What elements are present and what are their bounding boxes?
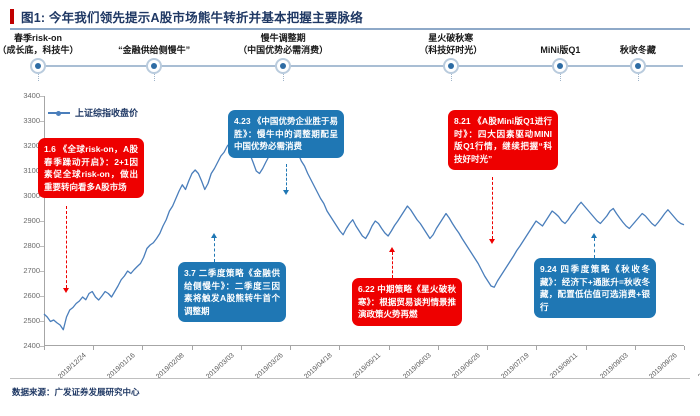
x-tick-label-11: 2019/09/03 (599, 352, 630, 381)
timeline-node-stem-5 (638, 74, 639, 81)
figure-page: 图1: 今年我们领先提示A股市场熊牛转折并基本把握主要脉络 春季risk-on（… (0, 0, 700, 416)
x-tick-mark-5 (290, 346, 291, 350)
figure-title-row: 图1: 今年我们领先提示A股市场熊牛转折并基本把握主要脉络 (10, 7, 363, 26)
timeline-node-2[interactable] (275, 58, 291, 74)
timeline-label-3: 星火破秋寒（科技好时光） (391, 32, 511, 56)
y-tick-label-6: 3000 (10, 191, 40, 200)
page-title: 图1: 今年我们领先提示A股市场熊牛转折并基本把握主要脉络 (21, 7, 363, 26)
timeline-node-stem-2 (283, 74, 284, 81)
callout-0622-leader (392, 252, 393, 278)
callout-0924-arrow (591, 233, 597, 238)
x-tick-label-8: 2019/06/26 (451, 352, 482, 381)
timeline-node-5[interactable] (630, 58, 646, 74)
timeline-label-5: 秋收冬藏 (578, 44, 698, 56)
x-tick-label-4: 2019/03/26 (254, 352, 285, 381)
callout-0423-leader (286, 164, 287, 190)
callout-0622: 6.22 中期策略《星火破秋寒》：根据贸易谈判情景推演政策火势再燃 (352, 278, 462, 326)
timeline-label-line1-3: 星火破秋寒 (391, 32, 511, 44)
callout-0106-leader (66, 206, 67, 288)
timeline-label-line1-0: 春季risk-on (0, 32, 98, 44)
callout-0106: 1.6 《全球risk-on，A股春季躁动开启》：2+1因素促全球risk-on… (38, 138, 144, 198)
callout-0924: 9.24 四季度策略《秋收冬藏》：经济下+通胀升=秋收冬藏，配置低估值可选消费+… (534, 258, 656, 318)
x-tick-label-3: 2019/03/03 (205, 352, 236, 381)
x-tick-label-2: 2019/02/08 (155, 352, 186, 381)
callout-0821-arrow (489, 239, 495, 244)
data-source-note: 数据来源：广发证券发展研究中心 (12, 386, 140, 398)
y-tick-label-7: 3100 (10, 166, 40, 175)
y-tick-label-4: 2800 (10, 241, 40, 250)
x-tick-mark-10 (536, 346, 537, 350)
x-tick-label-6: 2019/05/11 (352, 352, 382, 380)
callout-0821-leader (492, 177, 493, 239)
y-tick-label-8: 3200 (10, 141, 40, 150)
timeline-node-4[interactable] (552, 58, 568, 74)
timeline-node-1[interactable] (146, 58, 162, 74)
y-tick-label-10: 3400 (10, 91, 40, 100)
callout-0307: 3.7 二季度策略《金融供给侧慢牛》：二季度三因素将触发A股熊转牛首个调整期 (178, 262, 286, 322)
timeline-label-line1-1: “金融供给侧慢牛” (94, 44, 214, 56)
callout-0924-leader (594, 238, 595, 258)
x-tick-mark-7 (389, 346, 390, 350)
x-tick-mark-1 (93, 346, 94, 350)
timeline-node-stem-1 (154, 74, 155, 81)
x-tick-label-12: 2019/09/26 (648, 352, 679, 381)
callout-0622-arrow (389, 247, 395, 252)
x-tick-label-0: 2018/12/24 (57, 352, 88, 381)
timeline-node-stem-0 (38, 74, 39, 81)
callout-0821: 8.21 《A股Mini版Q1进行时》：四大因素驱动MINI版Q1行情，继续把握… (448, 110, 558, 170)
y-tick-label-3: 2700 (10, 266, 40, 275)
timeline-label-line2-3: （科技好时光） (391, 44, 511, 56)
callout-0106-arrow (63, 288, 69, 293)
callout-0423: 4.23 《中国优势企业胜于易胜》：慢牛中的调整期配呈中国优势必需消费 (228, 110, 344, 158)
timeline-node-3[interactable] (443, 58, 459, 74)
timeline-axis (38, 65, 683, 67)
callout-0307-arrow (211, 233, 217, 238)
x-tick-label-1: 2019/01/16 (106, 352, 137, 381)
x-tick-label-9: 2019/07/19 (500, 352, 531, 381)
y-tick-label-5: 2900 (10, 216, 40, 225)
x-tick-mark-8 (438, 346, 439, 350)
x-tick-label-5: 2019/04/18 (303, 352, 334, 381)
x-tick-mark-2 (142, 346, 143, 350)
x-tick-label-7: 2019/06/03 (402, 352, 433, 381)
timeline-label-2: 慢牛调整期（中国优势必需消费） (223, 32, 343, 56)
timeline-label-line1-5: 秋收冬藏 (578, 44, 698, 56)
timeline-label-line2-2: （中国优势必需消费） (223, 44, 343, 56)
timeline-node-stem-4 (560, 74, 561, 81)
x-tick-mark-3 (192, 346, 193, 350)
x-tick-mark-9 (487, 346, 488, 350)
timeline-label-0: 春季risk-on（成长底，科技牛） (0, 32, 98, 56)
callout-0307-leader (214, 238, 215, 262)
timeline-label-line2-0: （成长底，科技牛） (0, 44, 98, 56)
x-tick-mark-0 (44, 346, 45, 350)
y-tick-label-9: 3300 (10, 116, 40, 125)
x-tick-mark-13 (684, 346, 685, 350)
timeline-label-1: “金融供给侧慢牛” (94, 44, 214, 56)
title-accent-bar (10, 9, 14, 24)
x-tick-mark-4 (241, 346, 242, 350)
callout-0423-arrow (283, 190, 289, 195)
y-tick-label-2: 2600 (10, 291, 40, 300)
timeline-label-line1-2: 慢牛调整期 (223, 32, 343, 44)
x-tick-mark-11 (586, 346, 587, 350)
x-tick-mark-12 (635, 346, 636, 350)
x-tick-label-10: 2019/08/11 (549, 352, 579, 380)
title-divider (10, 28, 690, 30)
timeline-node-0[interactable] (30, 58, 46, 74)
footer-divider (10, 378, 690, 379)
y-tick-label-0: 2400 (10, 341, 40, 350)
x-tick-mark-6 (339, 346, 340, 350)
timeline-node-stem-3 (451, 74, 452, 81)
y-tick-label-1: 2500 (10, 316, 40, 325)
